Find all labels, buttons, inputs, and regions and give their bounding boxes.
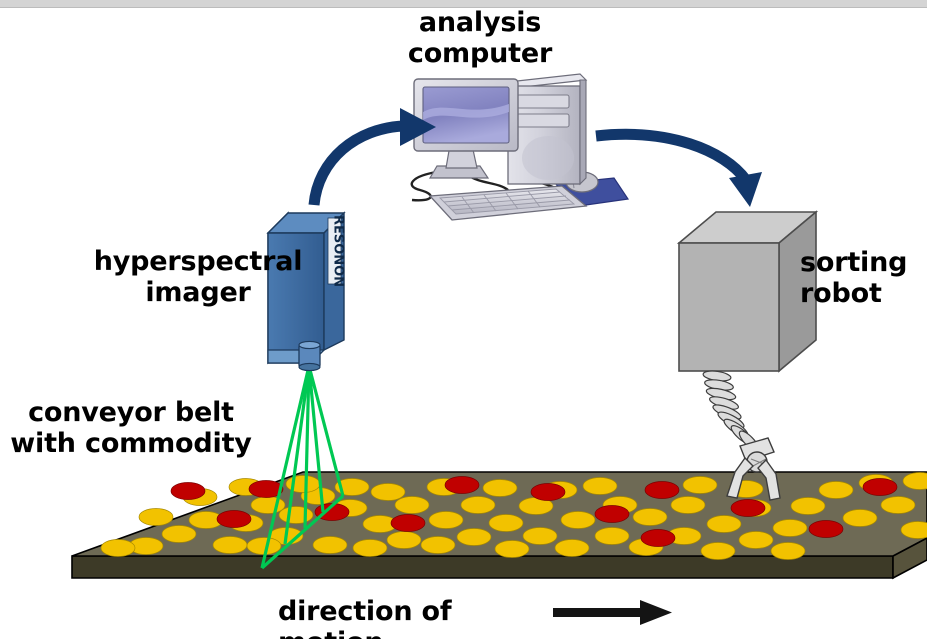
commodity-yellow	[881, 497, 915, 514]
tower-side	[580, 80, 586, 184]
belt-front-face	[72, 556, 893, 578]
robot-box-front	[679, 243, 779, 371]
commodity-yellow	[457, 529, 491, 546]
commodity-yellow	[251, 497, 285, 514]
commodity-yellow	[395, 497, 429, 514]
direction-of-motion-arrow	[553, 600, 672, 625]
tower-drive-bay-1	[517, 95, 569, 108]
arrow-computer-to-robot-shaft	[596, 134, 746, 180]
arrow-imager-to-computer-shaft	[314, 126, 404, 205]
commodity-yellow	[633, 509, 667, 526]
commodity-yellow	[429, 512, 463, 529]
camera-lens-aperture	[299, 363, 320, 370]
commodity-yellow	[353, 540, 387, 557]
label-sorting-robot: sorting robot	[800, 248, 927, 309]
commodity-yellow	[791, 498, 825, 515]
commodity-red	[391, 515, 425, 532]
commodity-red	[171, 483, 205, 500]
commodity-yellow	[313, 537, 347, 554]
arrow-computer-to-robot-head	[729, 172, 762, 207]
tower-drive-bay-2	[517, 114, 569, 127]
commodity-yellow	[162, 526, 196, 543]
commodity-yellow	[279, 507, 313, 524]
label-direction-of-motion: direction of motion	[278, 597, 548, 639]
conveyor-belt	[72, 472, 927, 578]
analysis-computer-device	[412, 74, 628, 220]
label-conveyor-belt: conveyor belt with commodity	[6, 398, 256, 459]
commodity-yellow	[595, 528, 629, 545]
commodity-red	[217, 511, 251, 528]
commodity-yellow	[771, 543, 805, 560]
commodity-yellow	[421, 537, 455, 554]
robot-arm-segments	[702, 369, 761, 453]
commodity-yellow	[371, 484, 405, 501]
commodity-yellow	[555, 540, 589, 557]
commodity-yellow	[561, 512, 595, 529]
commodity-yellow	[701, 543, 735, 560]
commodity-yellow	[819, 482, 853, 499]
label-hyperspectral-imager: hyperspectral imager	[60, 247, 336, 308]
diagram-canvas: RESONON	[0, 0, 927, 639]
commodity-yellow	[101, 540, 135, 557]
commodity-red	[531, 484, 565, 501]
commodity-red	[641, 530, 675, 547]
commodity-red	[863, 479, 897, 496]
commodity-yellow	[387, 532, 421, 549]
commodity-yellow	[671, 497, 705, 514]
commodity-red	[645, 482, 679, 499]
diagram-illustration: RESONON	[0, 0, 927, 639]
commodity-yellow	[489, 515, 523, 532]
commodity-yellow	[213, 537, 247, 554]
commodity-yellow	[707, 516, 741, 533]
commodity-yellow	[247, 538, 281, 555]
commodity-yellow	[495, 541, 529, 558]
commodity-yellow	[683, 477, 717, 494]
commodity-red	[595, 506, 629, 523]
commodity-yellow	[139, 509, 173, 526]
label-analysis-computer: analysis computer	[371, 8, 589, 69]
commodity-yellow	[461, 497, 495, 514]
commodity-red	[809, 521, 843, 538]
commodity-red	[731, 500, 765, 517]
commodity-yellow	[843, 510, 877, 527]
commodity-yellow	[483, 480, 517, 497]
commodity-yellow	[523, 528, 557, 545]
camera-lens-top	[299, 341, 320, 348]
commodity-yellow	[583, 478, 617, 495]
commodity-yellow	[773, 520, 807, 537]
commodity-red	[445, 477, 479, 494]
tower-shading	[522, 136, 574, 180]
sorting-robot-device	[679, 212, 816, 500]
commodity-yellow	[739, 532, 773, 549]
